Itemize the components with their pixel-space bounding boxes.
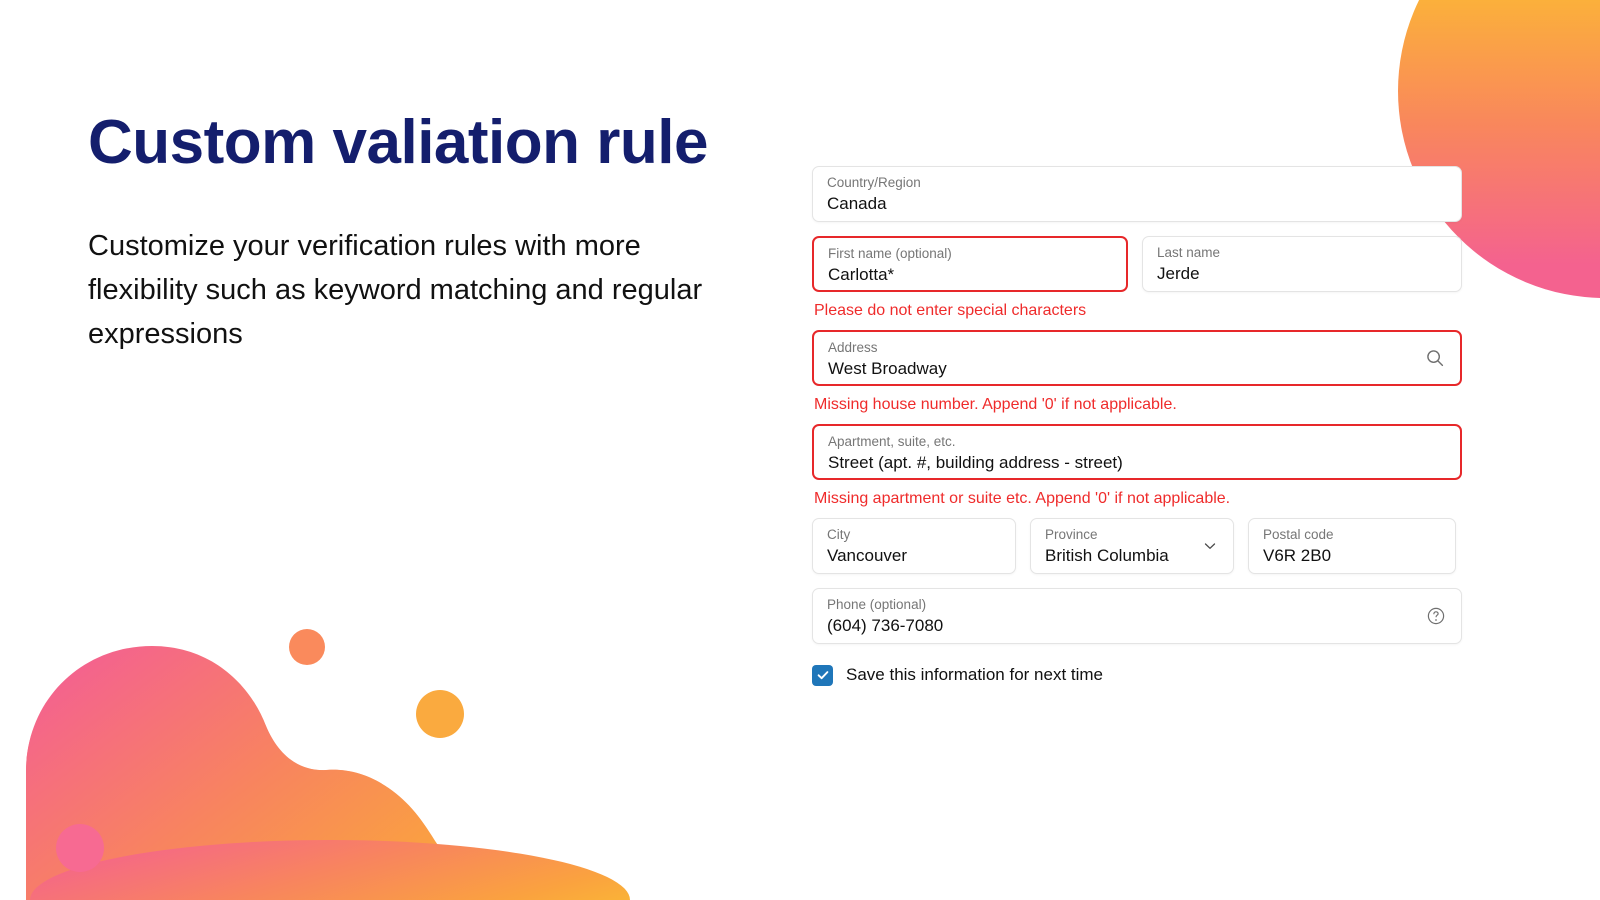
city-value: Vancouver [827,545,1001,567]
country-region-label: Country/Region [827,175,1447,191]
last-name-field[interactable]: Last name Jerde [1142,236,1462,292]
address-value: West Broadway [828,358,1446,380]
province-value: British Columbia [1045,545,1219,567]
hero-copy: Custom valiation rule Customize your ver… [88,104,768,356]
first-name-field[interactable]: First name (optional) Carlotta* [812,236,1128,292]
check-icon [816,668,830,682]
last-name-value: Jerde [1157,263,1447,285]
decor-dot-salmon [289,629,325,665]
province-select[interactable]: Province British Columbia [1030,518,1234,574]
address-label: Address [828,340,1446,356]
address-error: Missing house number. Append '0' if not … [814,395,1462,415]
apartment-error: Missing apartment or suite etc. Append '… [814,489,1462,509]
search-icon[interactable] [1424,347,1446,369]
country-region-field[interactable]: Country/Region Canada [812,166,1462,222]
first-name-error: Please do not enter special characters [814,301,1462,321]
gradient-blob-bottom-left [0,560,640,900]
country-region-value: Canada [827,193,1447,215]
apartment-label: Apartment, suite, etc. [828,434,1446,450]
postal-code-label: Postal code [1263,527,1441,543]
last-name-label: Last name [1157,245,1447,261]
save-info-checkbox[interactable] [812,665,833,686]
hero-subcopy: Customize your verification rules with m… [88,224,738,356]
province-label: Province [1045,527,1219,543]
save-info-label: Save this information for next time [846,664,1103,686]
phone-field[interactable]: Phone (optional) (604) 736-7080 [812,588,1462,644]
postal-code-value: V6R 2B0 [1263,545,1441,567]
apartment-value: Street (apt. #, building address - stree… [828,452,1446,474]
page-title: Custom valiation rule [88,104,768,182]
decor-dot-amber [416,690,464,738]
postal-code-field[interactable]: Postal code V6R 2B0 [1248,518,1456,574]
slide-canvas: Custom valiation rule Customize your ver… [0,0,1600,900]
chevron-down-icon[interactable] [1199,535,1221,557]
address-field[interactable]: Address West Broadway [812,330,1462,386]
phone-value: (604) 736-7080 [827,615,1447,637]
city-label: City [827,527,1001,543]
name-row: First name (optional) Carlotta* Last nam… [812,236,1462,292]
phone-label: Phone (optional) [827,597,1447,613]
city-province-postal-row: City Vancouver Province British Columbia… [812,518,1462,574]
decor-dot-pink [56,824,104,872]
city-field[interactable]: City Vancouver [812,518,1016,574]
checkout-address-form: Country/Region Canada First name (option… [812,166,1462,686]
first-name-label: First name (optional) [828,246,1112,262]
apartment-field[interactable]: Apartment, suite, etc. Street (apt. #, b… [812,424,1462,480]
help-circle-icon[interactable] [1425,605,1447,627]
save-info-row[interactable]: Save this information for next time [812,664,1462,686]
first-name-value: Carlotta* [828,264,1112,286]
